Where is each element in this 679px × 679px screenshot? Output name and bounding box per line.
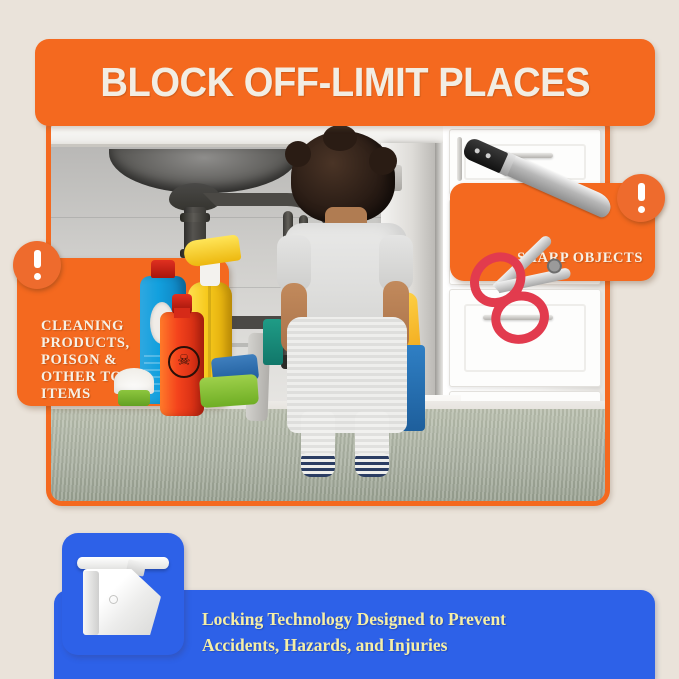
infographic-stage: BLOCK OFF-LIMIT PLACES [0, 0, 679, 679]
product-icon-tile [62, 533, 184, 655]
cabinet-latch-icon [75, 551, 171, 637]
title-banner: BLOCK OFF-LIMIT PLACES [35, 39, 655, 126]
page-title: BLOCK OFF-LIMIT PLACES [100, 59, 590, 106]
scrub-brush-icon [114, 368, 154, 406]
footer-line-1: Locking Technology Designed to Prevent [202, 606, 632, 632]
poison-bottle-icon: ☠ [160, 312, 204, 416]
green-sponge-icon [199, 374, 259, 408]
footer-line-2: Accidents, Hazards, and Injuries [202, 632, 632, 658]
child-figure [263, 131, 431, 471]
exclamation-icon [617, 174, 665, 222]
child-sock-right [355, 453, 389, 477]
child-sock-left [301, 453, 335, 477]
footer-text: Locking Technology Designed to Prevent A… [202, 606, 632, 659]
exclamation-icon [13, 241, 61, 289]
